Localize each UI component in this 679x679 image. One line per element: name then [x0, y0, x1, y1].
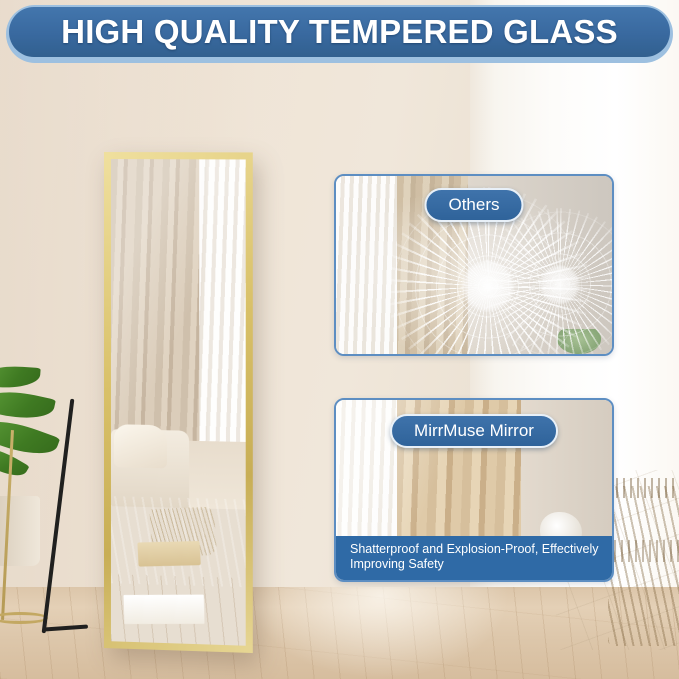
reflected-curtains	[111, 159, 208, 460]
headline-banner: HIGH QUALITY TEMPERED GLASS	[6, 5, 673, 63]
chair-body	[608, 486, 679, 646]
panel-caption: Shatterproof and Explosion-Proof, Effect…	[336, 536, 612, 580]
comparison-panel-others: Others	[334, 174, 614, 356]
comparison-panel-mirrmuse: MirrMuse Mirror Shatterproof and Explosi…	[334, 398, 614, 582]
full-length-mirror	[104, 152, 253, 653]
panel-label-others: Others	[424, 188, 523, 222]
floor-light-reflection	[250, 587, 510, 679]
headline-text: HIGH QUALITY TEMPERED GLASS	[61, 13, 618, 51]
banner-pill: HIGH QUALITY TEMPERED GLASS	[9, 7, 670, 57]
product-feature-image: HIGH QUALITY TEMPERED GLASS	[0, 0, 679, 679]
reflected-pillow	[114, 424, 168, 469]
panel-label-mirrmuse: MirrMuse Mirror	[390, 414, 558, 448]
reflected-book-stack	[137, 541, 200, 567]
reflected-paper	[124, 594, 206, 623]
mirror-reflection	[111, 159, 246, 646]
reflected-sheer-curtain	[200, 159, 246, 461]
